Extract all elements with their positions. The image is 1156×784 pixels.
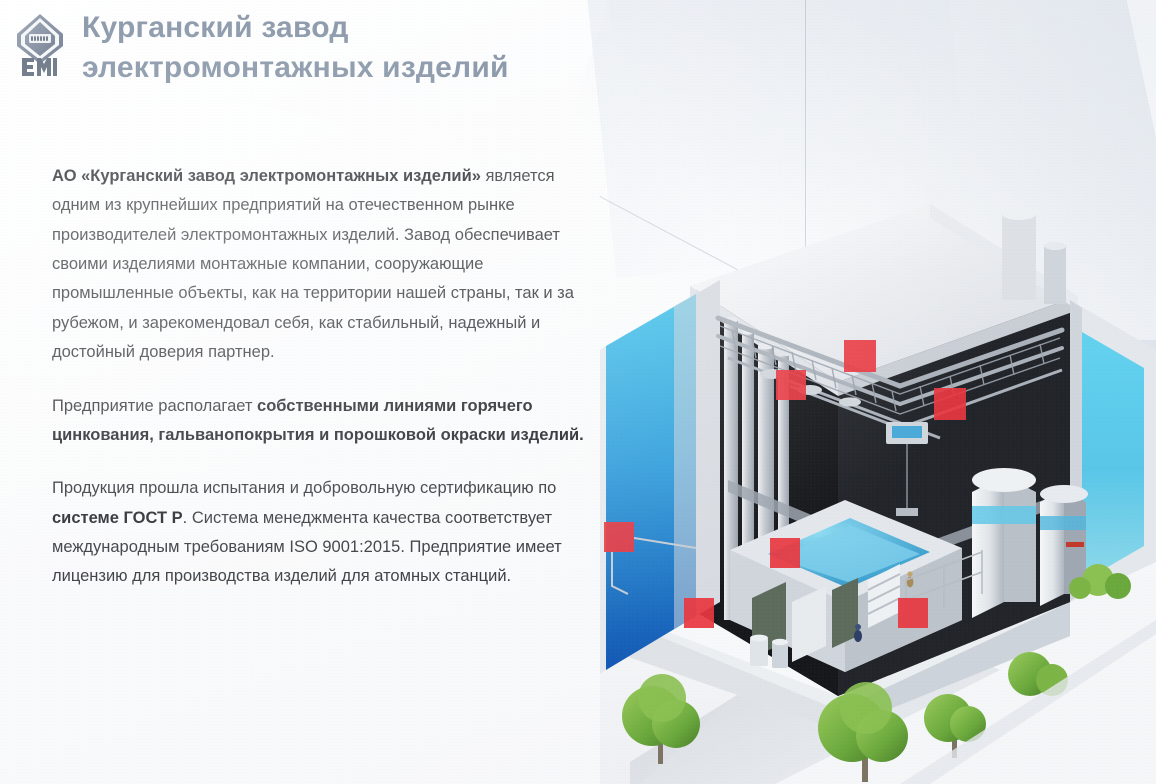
certification-prefix: Продукция прошла испытания и добровольну… xyxy=(52,479,556,497)
rooftop-stacks xyxy=(1002,208,1066,304)
company-logo xyxy=(12,12,68,78)
callout-marker xyxy=(776,370,806,400)
certification-highlight: системе ГОСТ Р xyxy=(52,509,183,527)
paragraph-intro-text: является одним из крупнейших предприятий… xyxy=(52,167,574,361)
callout-marker xyxy=(898,598,928,628)
factory-cutaway-illustration xyxy=(600,150,1156,784)
company-legal-name: АО «Курганский завод электромонтажных из… xyxy=(52,167,481,185)
slide-header: Курганский завод электромонтажных издели… xyxy=(0,0,1156,100)
wall-left-pilaster xyxy=(696,280,720,616)
worker-figure-a xyxy=(854,624,862,642)
kzemi-diamond-logo-icon xyxy=(12,12,68,78)
callout-marker xyxy=(844,340,876,372)
callout-marker xyxy=(770,538,800,568)
callout-marker xyxy=(604,522,634,552)
capabilities-prefix: Предприятие располагает xyxy=(52,397,257,415)
callout-marker xyxy=(934,388,966,420)
paragraph-intro: АО «Курганский завод электромонтажных из… xyxy=(52,162,592,368)
wall-left-blue xyxy=(600,294,696,674)
slide-canvas: Курганский завод электромонтажных издели… xyxy=(0,0,1156,784)
company-description: АО «Курганский завод электромонтажных из… xyxy=(52,162,592,592)
callout-marker xyxy=(684,598,714,628)
paragraph-certification: Продукция прошла испытания и добровольну… xyxy=(52,474,592,591)
page-title: Курганский завод электромонтажных издели… xyxy=(82,8,509,88)
paragraph-capabilities: Предприятие располагает собственными лин… xyxy=(52,392,592,451)
